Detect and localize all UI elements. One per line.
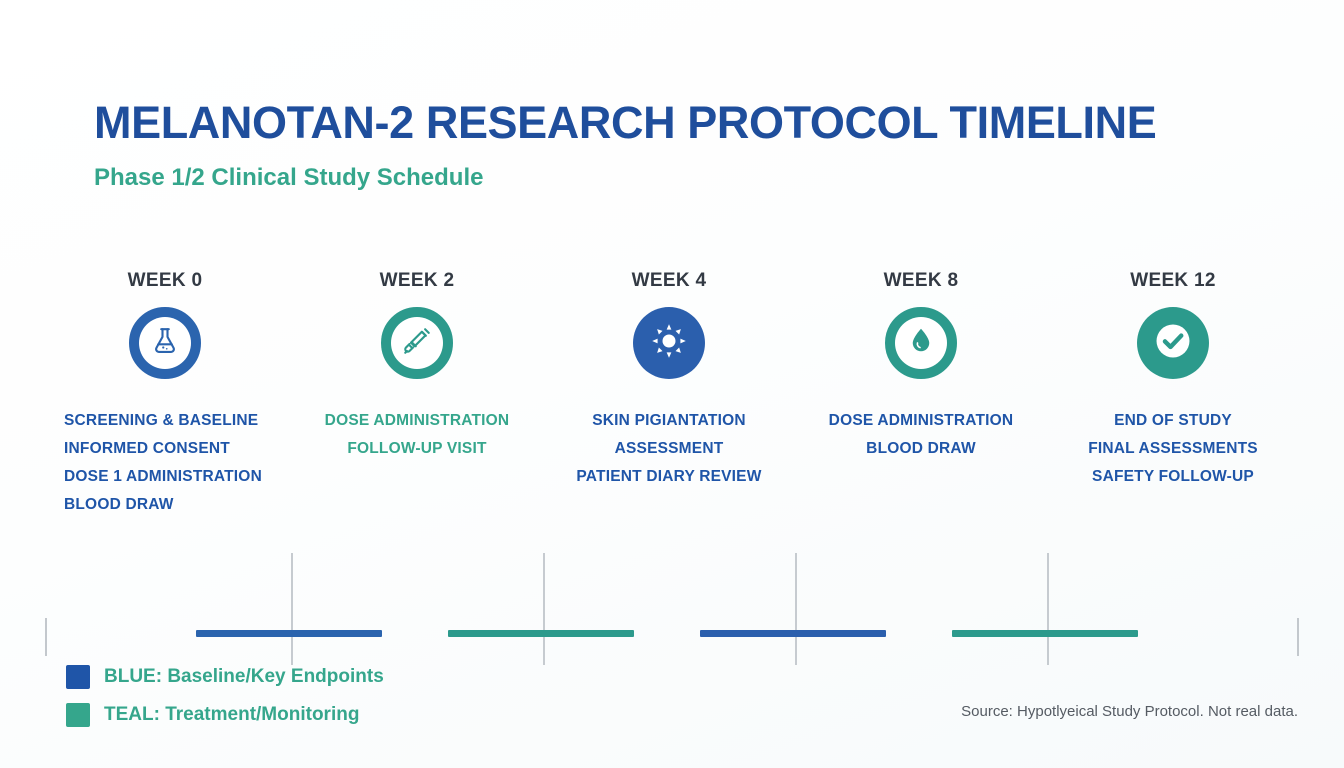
timeline-segment-week2-week4 bbox=[448, 630, 634, 637]
milestone-description: DOSE ADMINISTRATION FOLLOW-UP VISIT bbox=[292, 407, 542, 463]
milestone-line: FOLLOW-UP VISIT bbox=[292, 435, 542, 463]
milestone-marker[interactable] bbox=[1137, 307, 1209, 379]
marker-disc bbox=[895, 317, 947, 369]
timeline-segment-week0-week2 bbox=[196, 630, 382, 637]
milestone-week-4[interactable]: WEEK 4 bbox=[544, 270, 794, 491]
milestone-line: DOSE ADMINISTRATION bbox=[796, 407, 1046, 435]
marker-wrapper bbox=[544, 307, 794, 383]
legend-item-teal: TEAL: Treatment/Monitoring bbox=[66, 696, 384, 734]
milestone-week-0[interactable]: WEEK 0 bbox=[40, 270, 290, 519]
milestone-line: FINAL ASSESSMENTS bbox=[1048, 435, 1298, 463]
droplet-icon bbox=[906, 326, 936, 361]
milestone-line: SCREENING & BASELINE bbox=[64, 407, 290, 435]
milestone-description: END OF STUDY FINAL ASSESSMENTS SAFETY FO… bbox=[1048, 407, 1298, 491]
milestone-marker[interactable] bbox=[633, 307, 705, 379]
milestone-line: BLOOD DRAW bbox=[796, 435, 1046, 463]
milestone-line: DOSE 1 ADMINISTRATION bbox=[64, 463, 290, 491]
check-circle-icon bbox=[1150, 318, 1196, 369]
week-label: WEEK 2 bbox=[292, 270, 542, 292]
legend-swatch-blue bbox=[66, 665, 90, 689]
marker-wrapper bbox=[292, 307, 542, 383]
column-divider bbox=[1047, 553, 1049, 665]
legend-label: TEAL: Treatment/Monitoring bbox=[104, 704, 359, 726]
marker-disc bbox=[633, 307, 705, 379]
legend-label: BLUE: Baseline/Key Endpoints bbox=[104, 666, 384, 688]
week-label: WEEK 0 bbox=[40, 270, 290, 292]
milestone-line: INFORMED CONSENT bbox=[64, 435, 290, 463]
timeline-edge-tick-right bbox=[1297, 618, 1299, 656]
timeline-edge-tick-left bbox=[45, 618, 47, 656]
legend-item-blue: BLUE: Baseline/Key Endpoints bbox=[66, 658, 384, 696]
source-note: Source: Hypotlyeical Study Protocol. Not… bbox=[961, 703, 1298, 720]
week-label: WEEK 8 bbox=[796, 270, 1046, 292]
timeline: WEEK 0 bbox=[0, 270, 1344, 550]
milestone-line: PATIENT DIARY REVIEW bbox=[544, 463, 794, 491]
sun-icon bbox=[650, 322, 688, 365]
flask-icon bbox=[150, 326, 180, 361]
infographic-canvas: MELANOTAN-2 RESEARCH PROTOCOL TIMELINE P… bbox=[0, 0, 1344, 768]
column-divider bbox=[543, 553, 545, 665]
column-divider bbox=[291, 553, 293, 665]
milestone-marker[interactable] bbox=[381, 307, 453, 379]
milestone-week-2[interactable]: WEEK 2 bbox=[292, 270, 542, 463]
marker-disc bbox=[1137, 307, 1209, 379]
milestone-week-12[interactable]: WEEK 12 END OF STUDY FINAL ASSESS bbox=[1048, 270, 1298, 491]
milestone-marker[interactable] bbox=[129, 307, 201, 379]
marker-wrapper bbox=[1048, 307, 1298, 383]
header: MELANOTAN-2 RESEARCH PROTOCOL TIMELINE P… bbox=[94, 96, 1254, 192]
column-divider bbox=[795, 553, 797, 665]
legend-swatch-teal bbox=[66, 703, 90, 727]
milestone-line: END OF STUDY bbox=[1048, 407, 1298, 435]
milestone-marker[interactable] bbox=[885, 307, 957, 379]
milestone-description: SKIN PIGIANTATION ASSESSMENT PATIENT DIA… bbox=[544, 407, 794, 491]
milestone-line: DOSE ADMINISTRATION bbox=[292, 407, 542, 435]
page-title: MELANOTAN-2 RESEARCH PROTOCOL TIMELINE bbox=[94, 96, 1254, 150]
milestone-line: SAFETY FOLLOW-UP bbox=[1048, 463, 1298, 491]
timeline-segment-week8-week12 bbox=[952, 630, 1138, 637]
milestone-description: DOSE ADMINISTRATION BLOOD DRAW bbox=[796, 407, 1046, 463]
milestone-line: ASSESSMENT bbox=[544, 435, 794, 463]
milestone-week-8[interactable]: WEEK 8 DOSE ADMINISTRATION BLOOD bbox=[796, 270, 1046, 463]
legend: BLUE: Baseline/Key Endpoints TEAL: Treat… bbox=[66, 658, 384, 734]
timeline-segment-week4-week8 bbox=[700, 630, 886, 637]
marker-disc bbox=[391, 317, 443, 369]
milestone-description: SCREENING & BASELINE INFORMED CONSENT DO… bbox=[40, 407, 290, 519]
week-label: WEEK 12 bbox=[1048, 270, 1298, 292]
milestone-line: SKIN PIGIANTATION bbox=[544, 407, 794, 435]
page-subtitle: Phase 1/2 Clinical Study Schedule bbox=[94, 150, 1254, 192]
milestone-line: BLOOD DRAW bbox=[64, 491, 290, 519]
marker-wrapper bbox=[40, 307, 290, 383]
week-label: WEEK 4 bbox=[544, 270, 794, 292]
marker-wrapper bbox=[796, 307, 1046, 383]
syringe-icon bbox=[402, 326, 432, 361]
marker-disc bbox=[139, 317, 191, 369]
